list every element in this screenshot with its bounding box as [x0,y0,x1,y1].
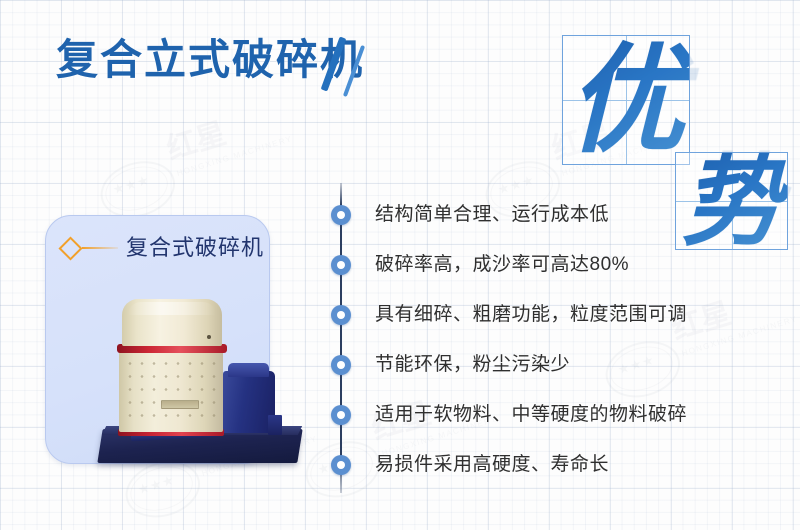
advantage-item: 节能环保，粉尘污染少 [331,355,791,375]
advantage-text: 破碎率高，成沙率可高达80% [375,252,629,278]
advantage-item: 具有细碎、粗磨功能，粒度范围可调 [331,305,791,325]
machine-motor-junction-box [268,415,282,435]
advantage-marker-icon [331,405,351,425]
advantage-text: 结构简单合理、运行成本低 [375,202,609,228]
watermark-stars-icon: ★★★ [111,173,151,197]
advantages-timeline: 结构简单合理、运行成本低 破碎率高，成沙率可高达80% 具有细碎、粗磨功能，粒度… [331,183,791,493]
watermark-brand-en: HONGXING MACHINERY [176,135,294,178]
diamond-bullet-icon [58,236,82,260]
diamond-connector-line [82,247,118,249]
watermark-brand-cn: 红星 [164,119,230,165]
advantage-marker-icon [331,205,351,225]
advantage-item: 结构简单合理、运行成本低 [331,205,791,225]
advantage-text: 具有细碎、粗磨功能，粒度范围可调 [375,302,687,328]
machine-motor-cap [228,363,269,377]
watermark-stars-icon: ★★★ [136,473,176,497]
advantage-item: 适用于软物料、中等硬度的物料破碎 [331,405,791,425]
machine-top-highlight [128,302,216,315]
advantage-text: 节能环保，粉尘污染少 [375,352,570,378]
machine-body-bolts [121,355,221,427]
timeline-axis [340,183,342,493]
calligraphy-box-you: 优 [562,35,690,165]
page-title: 复合立式破碎机 [56,36,364,84]
advantage-marker-icon [331,455,351,475]
machine-inspection-hatch [161,400,199,409]
advantage-text: 易损件采用高硬度、寿命长 [375,452,609,478]
machine-top-port-icon [207,335,211,339]
advantage-text: 适用于软物料、中等硬度的物料破碎 [375,402,687,428]
advantage-marker-icon [331,255,351,275]
advantage-marker-icon [331,355,351,375]
advantage-item: 易损件采用高硬度、寿命长 [331,455,791,475]
watermark-ring-inner-icon [125,459,198,518]
advantage-marker-icon [331,305,351,325]
machine-photo [95,285,310,465]
watermark-ring-inner-icon [100,159,173,218]
infographic-canvas: ★★★ 红星 HONGXING MACHINERY ★★★ 红星 HONGXIN… [0,0,800,530]
advantage-item: 破碎率高，成沙率可高达80% [331,255,791,275]
calligraphy-char-you: 优 [563,36,689,164]
product-card-label: 复合式破碎机 [126,234,264,263]
